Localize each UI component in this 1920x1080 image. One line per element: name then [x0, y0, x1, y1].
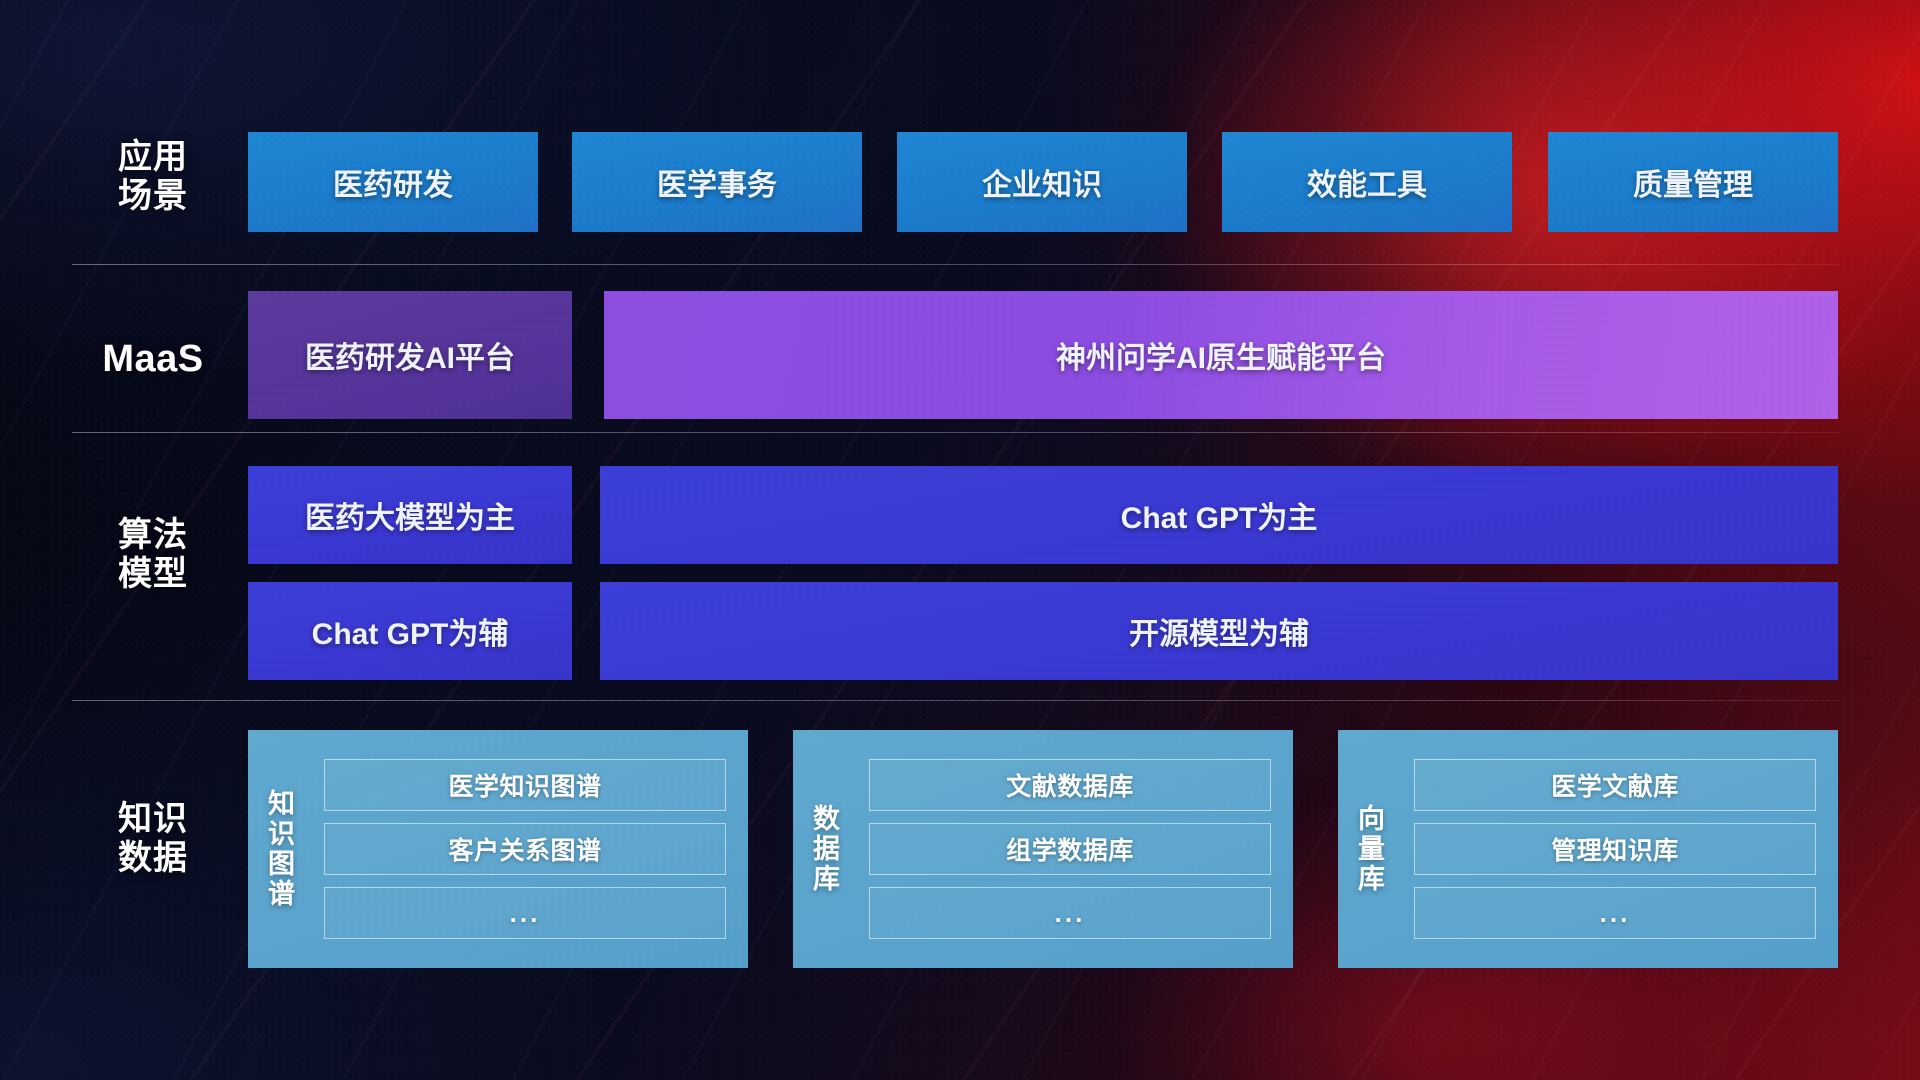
app-card-quality-management[interactable]: 质量管理: [1548, 132, 1838, 232]
app-card-quality-management-label: 质量管理: [1633, 160, 1753, 204]
algo-card-open-source-secondary[interactable]: 开源模型为辅: [600, 582, 1838, 680]
app-card-drug-rd[interactable]: 医药研发: [248, 132, 538, 232]
app-card-enterprise-knowledge[interactable]: 企业知识: [897, 132, 1187, 232]
app-card-medical-affairs-label: 医学事务: [657, 160, 777, 204]
vs-title-char-2: 量: [1358, 834, 1386, 864]
row-label-algorithm: 算法 模型: [78, 516, 228, 595]
app-card-medical-affairs[interactable]: 医学事务: [572, 132, 862, 232]
db-title-char-2: 据: [813, 834, 841, 864]
knowledge-item-management-knowledge-store[interactable]: 管理知识库: [1414, 823, 1816, 875]
knowledge-group-knowledge-graph-title: 知 识 图 谱: [248, 730, 316, 968]
knowledge-item-more-2[interactable]: ...: [869, 887, 1271, 939]
kg-title-char-3: 图: [268, 849, 296, 879]
divider-application-maas: [72, 264, 1840, 265]
algo-card-chatgpt-primary[interactable]: Chat GPT为主: [600, 466, 1838, 564]
row-label-knowledge-line2: 数据: [78, 839, 228, 878]
row-label-algorithm-line2: 模型: [78, 555, 228, 594]
knowledge-item-medical-knowledge-graph[interactable]: 医学知识图谱: [324, 759, 726, 811]
knowledge-group-database-title: 数 据 库: [793, 730, 861, 968]
row-label-maas: MaaS: [78, 337, 228, 381]
knowledge-group-knowledge-graph[interactable]: 知 识 图 谱 医学知识图谱 客户关系图谱 ...: [248, 730, 748, 968]
kg-title-char-1: 知: [268, 789, 296, 819]
knowledge-group-database[interactable]: 数 据 库 文献数据库 组学数据库 ...: [793, 730, 1293, 968]
db-title-char-3: 库: [813, 864, 841, 894]
row-label-maas-line1: MaaS: [78, 337, 228, 381]
kg-title-char-2: 识: [268, 819, 296, 849]
algo-card-pharma-large-model-primary-label: 医药大模型为主: [305, 493, 515, 537]
app-card-efficiency-tools[interactable]: 效能工具: [1222, 132, 1512, 232]
knowledge-item-literature-database[interactable]: 文献数据库: [869, 759, 1271, 811]
db-title-char-1: 数: [813, 804, 841, 834]
algo-card-pharma-large-model-primary[interactable]: 医药大模型为主: [248, 466, 572, 564]
vs-title-char-1: 向: [1358, 804, 1386, 834]
row-label-application-line2: 场景: [78, 177, 228, 216]
knowledge-group-knowledge-graph-items: 医学知识图谱 客户关系图谱 ...: [316, 730, 748, 968]
row-label-application: 应用 场景: [78, 138, 228, 217]
knowledge-item-customer-relation-graph[interactable]: 客户关系图谱: [324, 823, 726, 875]
divider-algorithm-knowledge: [72, 700, 1840, 701]
kg-title-char-4: 谱: [268, 879, 296, 909]
maas-card-drug-rd-ai-platform-label: 医药研发AI平台: [305, 333, 515, 377]
vs-title-char-3: 库: [1358, 864, 1386, 894]
algo-card-chatgpt-primary-label: Chat GPT为主: [1121, 493, 1318, 537]
knowledge-group-vector-store-items: 医学文献库 管理知识库 ...: [1406, 730, 1838, 968]
divider-maas-algorithm: [72, 432, 1840, 433]
knowledge-item-medical-literature-store[interactable]: 医学文献库: [1414, 759, 1816, 811]
maas-card-shenzhou-wenxue-platform[interactable]: 神州问学AI原生赋能平台: [604, 291, 1838, 419]
row-label-knowledge: 知识 数据: [78, 800, 228, 879]
algo-card-chatgpt-secondary[interactable]: Chat GPT为辅: [248, 582, 572, 680]
row-label-knowledge-line1: 知识: [78, 800, 228, 839]
knowledge-item-omics-database[interactable]: 组学数据库: [869, 823, 1271, 875]
app-card-efficiency-tools-label: 效能工具: [1307, 160, 1427, 204]
knowledge-item-more-1[interactable]: ...: [324, 887, 726, 939]
app-card-enterprise-knowledge-label: 企业知识: [982, 160, 1102, 204]
maas-card-shenzhou-wenxue-platform-label: 神州问学AI原生赋能平台: [1056, 333, 1386, 377]
algo-card-open-source-secondary-label: 开源模型为辅: [1129, 609, 1309, 653]
knowledge-group-vector-store[interactable]: 向 量 库 医学文献库 管理知识库 ...: [1338, 730, 1838, 968]
slide-canvas: 应用 场景 医药研发 医学事务 企业知识 效能工具 质量管理 MaaS: [0, 0, 1920, 1080]
app-card-drug-rd-label: 医药研发: [333, 160, 453, 204]
maas-card-drug-rd-ai-platform[interactable]: 医药研发AI平台: [248, 291, 572, 419]
row-label-application-line1: 应用: [78, 138, 228, 177]
knowledge-group-vector-store-title: 向 量 库: [1338, 730, 1406, 968]
row-label-algorithm-line1: 算法: [78, 516, 228, 555]
algo-card-chatgpt-secondary-label: Chat GPT为辅: [312, 609, 509, 653]
knowledge-item-more-3[interactable]: ...: [1414, 887, 1816, 939]
architecture-diagram: 应用 场景 医药研发 医学事务 企业知识 效能工具 质量管理 MaaS: [0, 0, 1920, 1080]
knowledge-group-database-items: 文献数据库 组学数据库 ...: [861, 730, 1293, 968]
